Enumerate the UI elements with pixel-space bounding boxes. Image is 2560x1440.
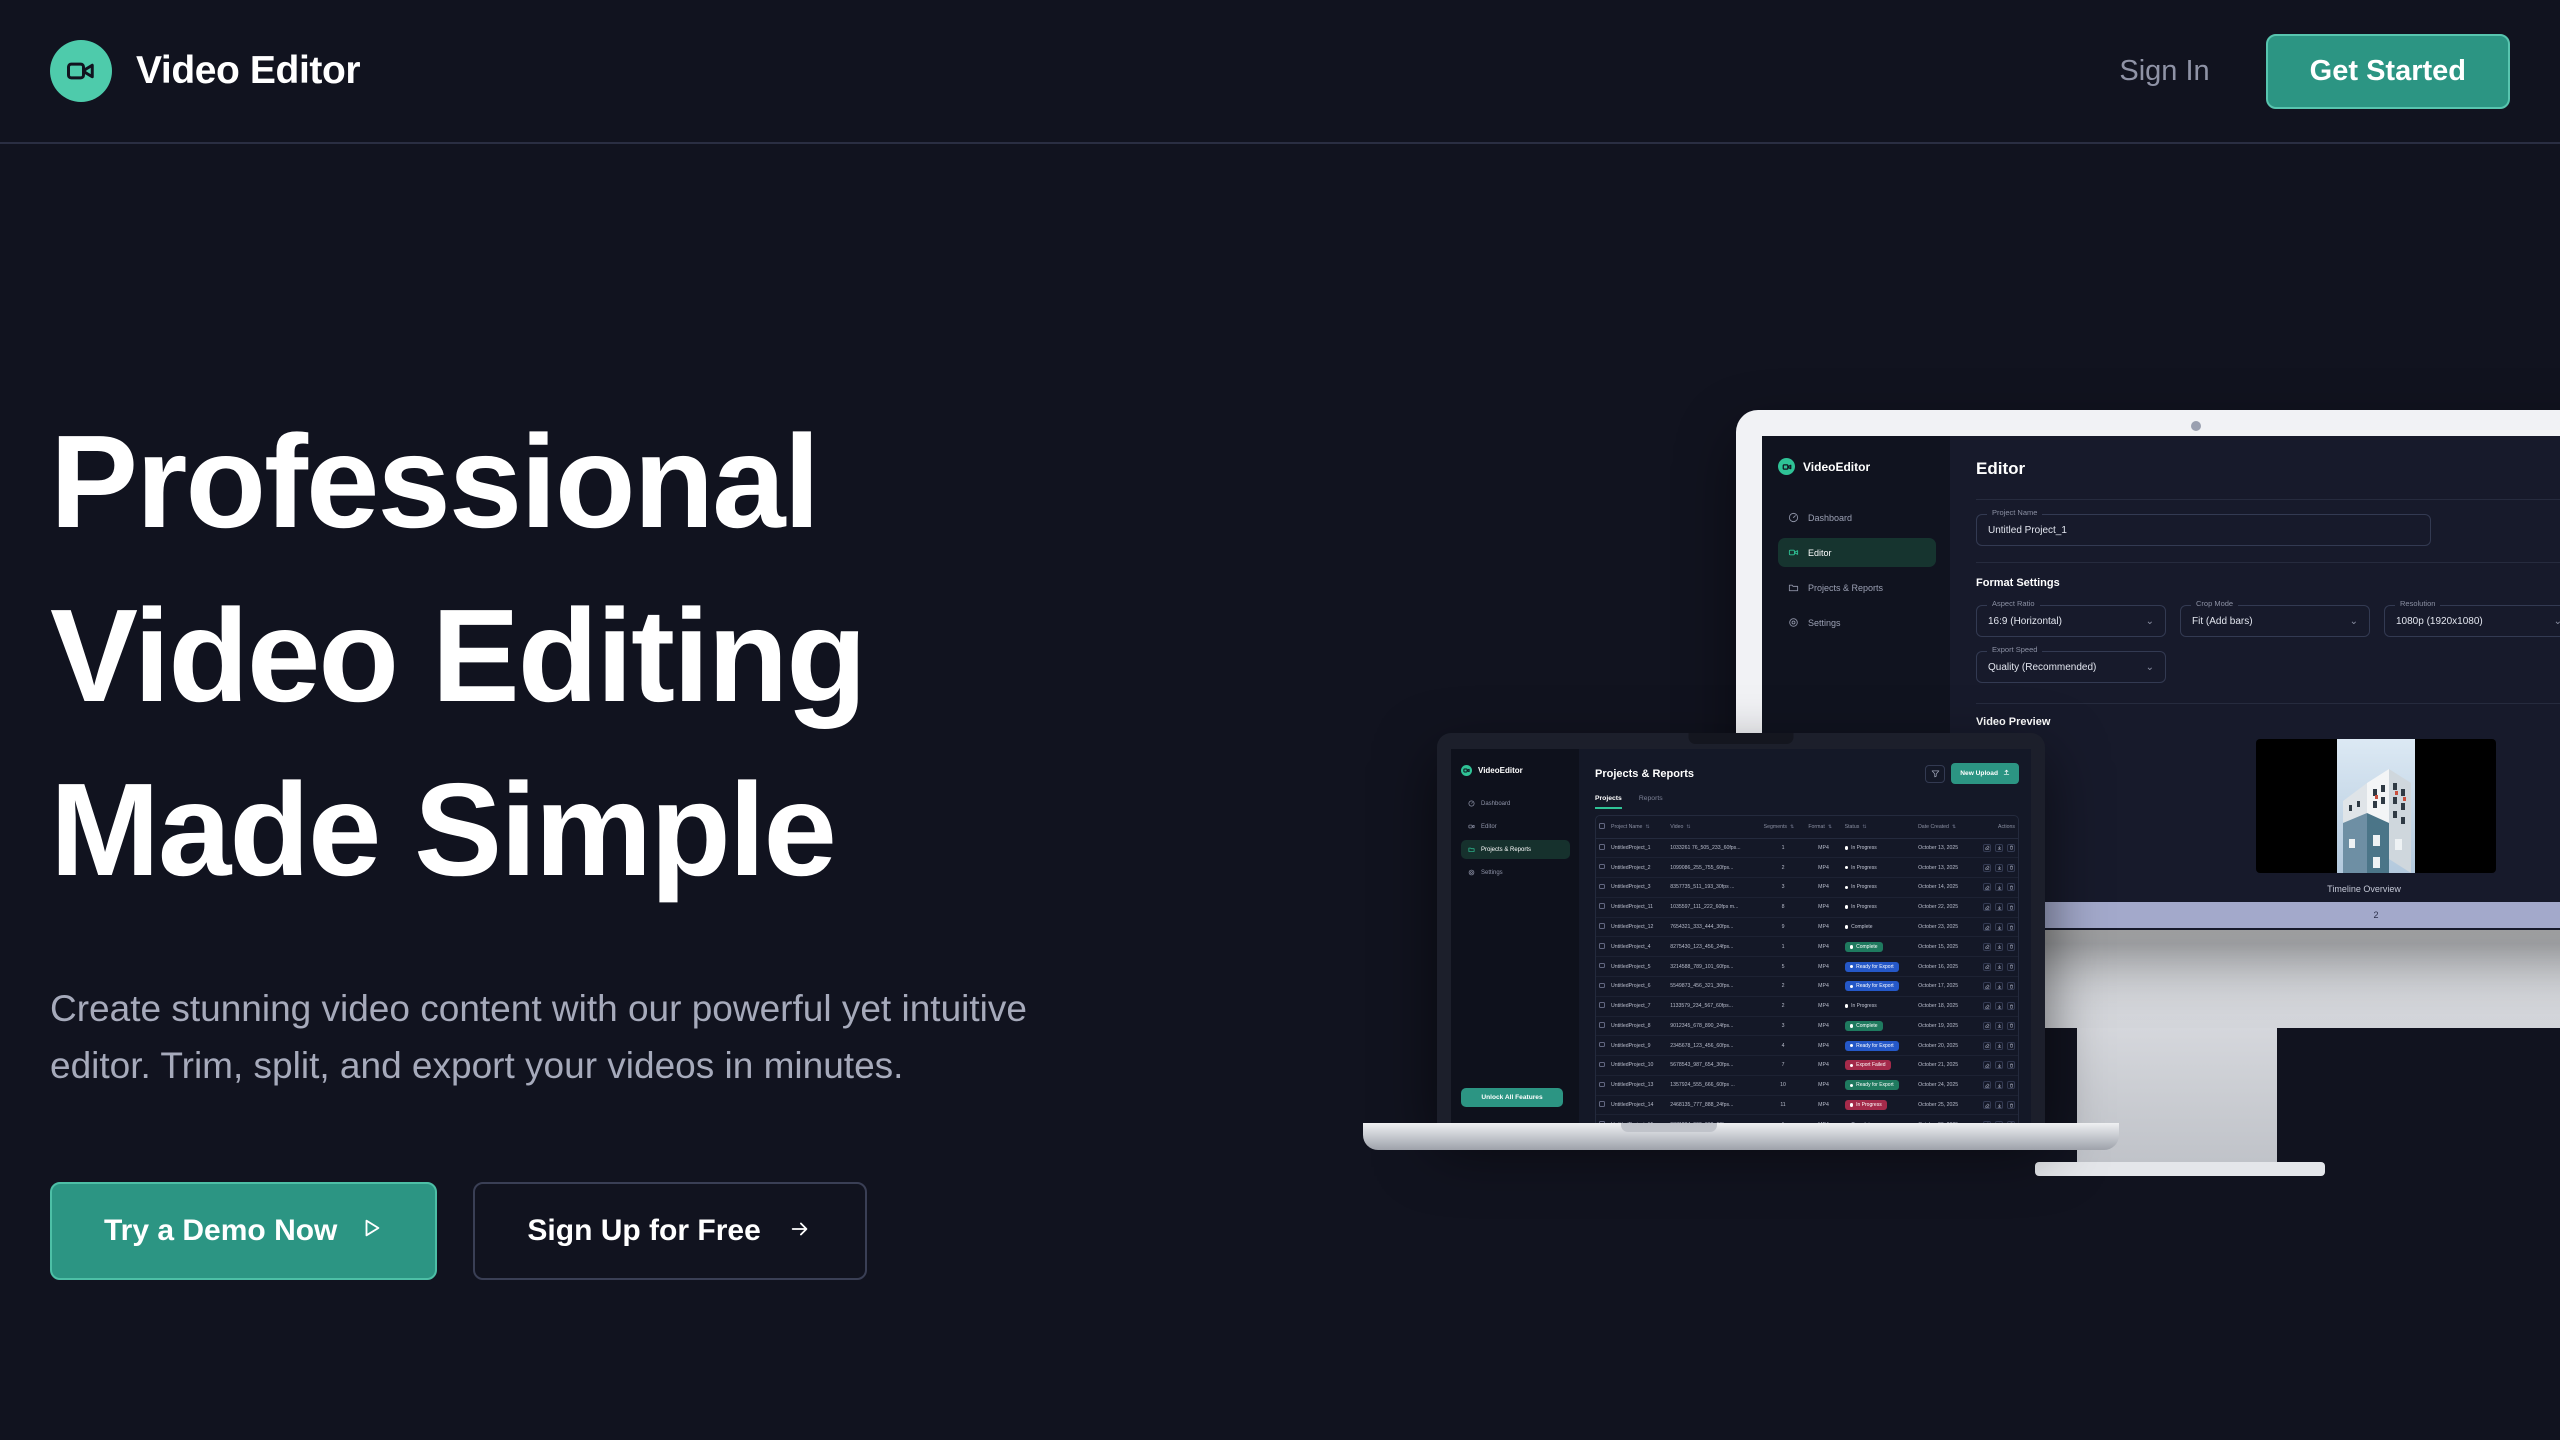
status-badge: Complete [1845,942,1883,952]
cell-segments: 7 [1761,1056,1806,1076]
delete-icon[interactable] [2007,1101,2015,1109]
row-checkbox[interactable] [1596,1016,1608,1036]
edit-icon[interactable] [1983,943,1991,951]
video-camera-icon [1788,547,1799,558]
cell-actions [1971,996,2018,1016]
cell-segments: 11 [1761,1095,1806,1115]
cell-segments: 10 [1761,1075,1806,1095]
cell-project-name: UntitledProject_5 [1608,957,1667,977]
laptop-base-notch [1621,1123,1717,1132]
try-demo-label: Try a Demo Now [104,1214,337,1248]
get-started-button[interactable]: Get Started [2266,34,2510,109]
checkbox-icon[interactable] [1599,1082,1605,1088]
export-speed-label: Export Speed [1987,645,2042,654]
row-checkbox[interactable] [1596,878,1608,898]
cell-status: Complete [1842,937,1915,957]
sort-icon: ⇅ [1790,824,1794,830]
projects-main-panel: Projects & Reports New Upload [1579,749,2031,1123]
page-title: Professional Video Editing Made Simple [50,395,1170,918]
checkbox-icon[interactable] [1599,963,1605,969]
cell-actions [1971,957,2018,977]
cell-date-created: October 26, 2025 [1915,1115,1971,1123]
cell-project-name: UntitledProject_7 [1608,996,1667,1016]
column-format[interactable]: Format⇅ [1805,816,1841,838]
status-dot-icon [1845,1004,1849,1008]
play-icon [361,1214,383,1248]
sidebar-item-dashboard[interactable]: Dashboard [1778,503,1936,532]
cell-project-name: UntitledProject_6 [1608,976,1667,996]
monitor-foot [2035,1162,2325,1176]
column-select-all[interactable] [1596,816,1608,838]
status-badge: In Progress [1845,882,1882,892]
cell-format: MP4 [1805,996,1841,1016]
cell-actions [1971,1075,2018,1095]
cell-format: MP4 [1805,1115,1841,1123]
status-badge: In Progress [1845,843,1882,853]
row-checkbox[interactable] [1596,858,1608,878]
sidebar-item-label: Settings [1481,870,1503,876]
cell-actions [1971,1016,2018,1036]
sort-icon: ⇅ [1952,824,1956,830]
delete-icon[interactable] [2007,923,2015,931]
sort-icon: ⇅ [1828,824,1832,830]
status-dot-icon [1850,1024,1854,1028]
checkbox-icon[interactable] [1599,884,1605,890]
download-icon[interactable] [1995,982,2003,990]
video-camera-icon [1778,458,1795,475]
cell-date-created: October 16, 2025 [1915,957,1971,977]
column-actions: Actions [1971,816,2018,838]
download-icon[interactable] [1995,1042,2003,1050]
sort-icon: ⇅ [1862,824,1866,830]
project-name-field[interactable]: Project Name Untitled Project_1 [1976,514,2431,546]
row-checkbox[interactable] [1596,1075,1608,1095]
try-demo-button[interactable]: Try a Demo Now [50,1182,437,1280]
tab-projects[interactable]: Projects [1595,795,1622,809]
download-icon[interactable] [1995,1101,2003,1109]
status-badge: Ready for Export [1845,962,1899,972]
cell-video: 2468135_777_888_24fps... [1667,1095,1760,1115]
cell-format: MP4 [1805,838,1841,858]
table-header-row: Project Name⇅ Video⇅ Segments⇅ Format⇅ S… [1596,816,2018,838]
checkbox-icon[interactable] [1599,823,1605,829]
download-icon[interactable] [1995,923,2003,931]
table-row[interactable]: UntitledProject_105678543_987_654_30fps.… [1596,1056,2018,1076]
unlock-all-features-button[interactable]: Unlock All Features [1461,1088,1563,1107]
table-row[interactable]: UntitledProject_71133579_234_567_60fps..… [1596,996,2018,1016]
column-project-name[interactable]: Project Name⇅ [1608,816,1667,838]
cell-video: 1133579_234_567_60fps... [1667,996,1760,1016]
new-upload-button[interactable]: New Upload [1951,763,2019,784]
sidebar-item-label: Projects & Reports [1808,583,1883,593]
sidebar-item-projects-reports[interactable]: Projects & Reports [1778,573,1936,602]
row-checkbox[interactable] [1596,996,1608,1016]
projects-tabs: Projects Reports [1595,795,2019,809]
delete-icon[interactable] [2007,1022,2015,1030]
edit-icon[interactable] [1983,963,1991,971]
resolution-select[interactable]: Resolution 1080p (1920x1080) ⌄ [2384,605,2560,637]
table-row[interactable]: UntitledProject_53214588_789_101_60fps..… [1596,957,2018,977]
tab-reports[interactable]: Reports [1639,795,1663,809]
divider [1976,499,2560,500]
brand-logo[interactable]: Video Editor [50,40,360,102]
sidebar-item-label: Editor [1808,548,1832,558]
project-name-value: Untitled Project_1 [1988,525,2067,536]
cell-date-created: October 23, 2025 [1915,917,1971,937]
download-icon[interactable] [1995,903,2003,911]
sidebar-item-label: Dashboard [1808,513,1852,523]
header-actions: Sign In Get Started [2119,34,2510,109]
video-preview-thumbnail [2337,739,2415,873]
table-row[interactable]: UntitledProject_131357924_555_666_60fps … [1596,1075,2018,1095]
status-badge: In Progress [1845,1100,1887,1110]
video-camera-icon [1461,765,1472,776]
hero-cta-group: Try a Demo Now Sign Up for Free [50,1182,1170,1280]
sort-icon: ⇅ [1686,824,1690,830]
status-dot-icon [1845,866,1849,870]
cell-date-created: October 17, 2025 [1915,976,1971,996]
chevron-down-icon: ⌄ [2146,616,2154,627]
cell-video: 5678543_987_654_30fps... [1667,1056,1760,1076]
checkbox-icon[interactable] [1599,864,1605,870]
cell-actions [1971,858,2018,878]
table-row[interactable]: UntitledProject_48275430_123_456_24fps..… [1596,937,2018,957]
status-dot-icon [1850,945,1854,949]
column-date-created[interactable]: Date Created⇅ [1915,816,1971,838]
chevron-down-icon: ⌄ [2554,616,2560,627]
laptop-mockup: VideoEditor Dashboard Editor [1437,733,2045,1123]
edit-icon[interactable] [1983,982,1991,990]
aspect-ratio-value: 16:9 (Horizontal) [1988,616,2062,627]
status-badge: In Progress [1845,1001,1882,1011]
status-dot-icon [1850,1103,1854,1107]
laptop-brand-name: VideoEditor [1478,766,1523,775]
cell-project-name: UntitledProject_14 [1608,1095,1667,1115]
cell-format: MP4 [1805,937,1841,957]
status-badge: In Progress [1845,902,1882,912]
table-row[interactable]: UntitledProject_38357735_511_193_30fps .… [1596,878,2018,898]
row-checkbox[interactable] [1596,1036,1608,1056]
sidebar-item-settings[interactable]: Settings [1461,863,1570,882]
editor-page-title: Editor [1976,459,2025,479]
edit-icon[interactable] [1983,1002,1991,1010]
cell-video: 5549873_456_321_30fps... [1667,976,1760,996]
cell-actions [1971,897,2018,917]
cell-project-name: UntitledProject_2 [1608,858,1667,878]
monitor-camera-dot [2191,421,2201,431]
format-settings-title: Format Settings [1976,577,2560,589]
row-checkbox[interactable] [1596,838,1608,858]
checkbox-icon[interactable] [1599,1022,1605,1028]
delete-icon[interactable] [2007,1061,2015,1069]
checkbox-icon[interactable] [1599,1062,1605,1068]
column-status[interactable]: Status⇅ [1842,816,1915,838]
sidebar-item-label: Editor [1481,824,1497,830]
cell-actions [1971,1095,2018,1115]
brand-name: Video Editor [136,49,360,93]
export-speed-value: Quality (Recommended) [1988,662,2096,673]
cell-actions [1971,937,2018,957]
video-camera-icon [50,40,112,102]
download-icon[interactable] [1995,1022,2003,1030]
row-checkbox[interactable] [1596,897,1608,917]
checkbox-icon[interactable] [1599,844,1605,850]
table-row[interactable]: UntitledProject_159871234_999_000_60fps.… [1596,1115,2018,1123]
site-header: Video Editor Sign In Get Started [0,0,2560,144]
cell-status: Complete [1842,1115,1915,1123]
chevron-down-icon: ⌄ [2350,616,2358,627]
row-checkbox[interactable] [1596,1056,1608,1076]
checkbox-icon[interactable] [1599,903,1605,909]
cell-date-created: October 14, 2025 [1915,878,1971,898]
cell-project-name: UntitledProject_13 [1608,1075,1667,1095]
projects-page-title: Projects & Reports [1595,768,1694,780]
checkbox-icon[interactable] [1599,983,1605,989]
download-icon[interactable] [1995,963,2003,971]
cell-project-name: UntitledProject_10 [1608,1056,1667,1076]
cell-video: 1357924_555_666_60fps ... [1667,1075,1760,1095]
upload-icon [2003,769,2010,778]
crop-mode-select[interactable]: Crop Mode Fit (Add bars) ⌄ [2180,605,2370,637]
projects-header-actions: New Upload [1925,763,2019,784]
download-icon[interactable] [1995,943,2003,951]
delete-icon[interactable] [2007,1081,2015,1089]
gauge-icon [1468,800,1475,807]
cell-date-created: October 24, 2025 [1915,1075,1971,1095]
cell-format: MP4 [1805,976,1841,996]
cell-project-name: UntitledProject_9 [1608,1036,1667,1056]
cell-segments: 1 [1761,937,1806,957]
cell-video: 8357735_511_193_30fps ... [1667,878,1760,898]
cell-format: MP4 [1805,1095,1841,1115]
download-icon[interactable] [1995,844,2003,852]
project-name-label: Project Name [1987,508,2042,517]
cell-format: MP4 [1805,917,1841,937]
delete-icon[interactable] [2007,864,2015,872]
hero-section: Professional Video Editing Made Simple C… [50,395,1170,1280]
sidebar-item-dashboard[interactable]: Dashboard [1461,794,1570,813]
gauge-icon [1788,512,1799,523]
sidebar-item-settings[interactable]: Settings [1778,608,1936,637]
sidebar-item-editor[interactable]: Editor [1461,817,1570,836]
table-row[interactable]: UntitledProject_21099086_255_755_60fps..… [1596,858,2018,878]
edit-icon[interactable] [1983,923,1991,931]
cell-video: 8275430_123_456_24fps... [1667,937,1760,957]
status-dot-icon [1845,925,1849,929]
cell-video: 7654321_333_444_30fps... [1667,917,1760,937]
export-speed-row: Export Speed Quality (Recommended) ⌄ [1976,651,2560,683]
download-icon[interactable] [1995,1002,2003,1010]
cell-status: In Progress [1842,878,1915,898]
checkbox-icon[interactable] [1599,923,1605,929]
row-checkbox[interactable] [1596,917,1608,937]
download-icon[interactable] [1995,883,2003,891]
status-badge: Complete [1845,1021,1883,1031]
cell-date-created: October 25, 2025 [1915,1095,1971,1115]
checkbox-icon[interactable] [1599,943,1605,949]
editor-sidebar-logo[interactable]: VideoEditor [1778,458,1936,475]
table-row[interactable]: UntitledProject_142468135_777_888_24fps.… [1596,1095,2018,1115]
sign-up-button[interactable]: Sign Up for Free [473,1182,866,1280]
table-row[interactable]: UntitledProject_89012345_678_890_24fps..… [1596,1016,2018,1036]
laptop-notch [1689,733,1794,744]
chevron-down-icon: ⌄ [2146,662,2154,673]
cell-actions [1971,1115,2018,1123]
status-badge: Ready for Export [1845,1080,1899,1090]
cell-segments: 4 [1761,1036,1806,1056]
delete-icon[interactable] [2007,903,2015,911]
hero-title-line-2: Video Editing [50,582,865,729]
status-dot-icon [1845,846,1849,850]
cell-segments: 3 [1761,1016,1806,1036]
download-icon[interactable] [1995,864,2003,872]
status-dot-icon [1850,965,1854,969]
laptop-sidebar-logo[interactable]: VideoEditor [1461,765,1570,776]
folder-icon [1468,846,1475,853]
status-badge: Ready for Export [1845,1041,1899,1051]
delete-icon[interactable] [2007,963,2015,971]
edit-icon[interactable] [1983,1081,1991,1089]
cell-format: MP4 [1805,1016,1841,1036]
download-icon[interactable] [1995,1081,2003,1089]
status-badge: Ready for Export [1845,981,1899,991]
projects-app-screen: VideoEditor Dashboard Editor [1451,749,2031,1123]
edit-icon[interactable] [1983,844,1991,852]
cell-video: 1099086_255_755_60fps... [1667,858,1760,878]
table-row[interactable]: UntitledProject_111035597_111_222_60fps … [1596,897,2018,917]
cell-segments: 9 [1761,917,1806,937]
cell-actions [1971,878,2018,898]
checkbox-icon[interactable] [1599,1101,1605,1107]
edit-icon[interactable] [1983,903,1991,911]
filter-icon[interactable] [1925,765,1945,783]
cell-date-created: October 20, 2025 [1915,1036,1971,1056]
cell-segments: 2 [1761,976,1806,996]
projects-table: Project Name⇅ Video⇅ Segments⇅ Format⇅ S… [1595,815,2019,1123]
cell-segments: 5 [1761,957,1806,977]
status-badge: In Progress [1845,863,1882,873]
cell-actions [1971,1056,2018,1076]
delete-icon[interactable] [2007,883,2015,891]
cell-format: MP4 [1805,1056,1841,1076]
cell-project-name: UntitledProject_8 [1608,1016,1667,1036]
hero-title-line-3: Made Simple [50,756,835,903]
folder-icon [1788,582,1799,593]
sign-in-link[interactable]: Sign In [2119,55,2209,88]
landing-page: Video Editor Sign In Get Started Profess… [0,0,2560,1440]
video-camera-icon [1468,823,1475,830]
delete-icon[interactable] [2007,982,2015,990]
status-dot-icon [1845,886,1849,890]
edit-icon[interactable] [1983,883,1991,891]
delete-icon[interactable] [2007,1002,2015,1010]
edit-icon[interactable] [1983,864,1991,872]
status-dot-icon [1850,1064,1854,1068]
status-badge: Export Failed [1845,1060,1891,1070]
cell-project-name: UntitledProject_4 [1608,937,1667,957]
edit-icon[interactable] [1983,1061,1991,1069]
edit-icon[interactable] [1983,1042,1991,1050]
cell-video: 1035597_111_222_60fps m... [1667,897,1760,917]
hero-subtitle: Create stunning video content with our p… [50,980,1130,1095]
cell-status: Complete [1842,917,1915,937]
sidebar-item-projects-reports[interactable]: Projects & Reports [1461,840,1570,859]
laptop-base [1363,1123,2119,1150]
download-icon[interactable] [1995,1061,2003,1069]
row-checkbox[interactable] [1596,957,1608,977]
resolution-label: Resolution [2395,599,2440,608]
timeline-overview-label: Timeline Overview [1976,884,2560,894]
table-body: UntitledProject_11033261 76_505_233_60fp… [1596,838,2018,1123]
sidebar-item-label: Settings [1808,618,1841,628]
cell-status: Ready for Export [1842,1036,1915,1056]
cell-actions [1971,976,2018,996]
video-preview-header: Video Preview Video player size [1976,716,2560,728]
cell-format: MP4 [1805,1075,1841,1095]
aspect-ratio-label: Aspect Ratio [1987,599,2040,608]
column-video[interactable]: Video⇅ [1667,816,1760,838]
aspect-ratio-select[interactable]: Aspect Ratio 16:9 (Horizontal) ⌄ [1976,605,2166,637]
crop-mode-value: Fit (Add bars) [2192,616,2253,627]
resolution-value: 1080p (1920x1080) [2396,616,2483,627]
cell-status: In Progress [1842,996,1915,1016]
cell-status: In Progress [1842,838,1915,858]
cell-video: 2345678_123_456_60fps... [1667,1036,1760,1056]
status-badge: Complete [1845,922,1878,932]
edit-icon[interactable] [1983,1022,1991,1030]
format-settings-grid: Aspect Ratio 16:9 (Horizontal) ⌄ Crop Mo… [1976,605,2560,637]
table-row[interactable]: UntitledProject_65549873_456_321_30fps..… [1596,976,2018,996]
sidebar-item-editor[interactable]: Editor [1778,538,1936,567]
row-checkbox[interactable] [1596,937,1608,957]
cell-format: MP4 [1805,957,1841,977]
table-row[interactable]: UntitledProject_11033261 76_505_233_60fp… [1596,838,2018,858]
divider [1976,703,2560,704]
export-speed-select[interactable]: Export Speed Quality (Recommended) ⌄ [1976,651,2166,683]
cell-status: Ready for Export [1842,1075,1915,1095]
cell-status: In Progress [1842,897,1915,917]
row-checkbox[interactable] [1596,1095,1608,1115]
checkbox-icon[interactable] [1599,1042,1605,1048]
table-row[interactable]: UntitledProject_127654321_333_444_30fps.… [1596,917,2018,937]
delete-icon[interactable] [2007,1042,2015,1050]
editor-brand-name: VideoEditor [1803,460,1870,474]
cell-video: 1033261 76_505_233_60fps... [1667,838,1760,858]
cell-segments: 1 [1761,1115,1806,1123]
checkbox-icon[interactable] [1599,1002,1605,1008]
delete-icon[interactable] [2007,844,2015,852]
cell-segments: 3 [1761,878,1806,898]
cell-status: In Progress [1842,1095,1915,1115]
table-row[interactable]: UntitledProject_92345678_123_456_60fps..… [1596,1036,2018,1056]
cell-actions [1971,917,2018,937]
column-segments[interactable]: Segments⇅ [1761,816,1806,838]
status-dot-icon [1845,905,1849,909]
editor-header-row: Editor Save Exp [1976,454,2560,483]
crop-mode-label: Crop Mode [2191,599,2238,608]
row-checkbox[interactable] [1596,976,1608,996]
cell-status: Complete [1842,1016,1915,1036]
cell-actions [1971,838,2018,858]
row-checkbox[interactable] [1596,1115,1608,1123]
timeline-bar[interactable]: 2 [1976,902,2560,928]
delete-icon[interactable] [2007,943,2015,951]
cell-status: Ready for Export [1842,957,1915,977]
cell-project-name: UntitledProject_11 [1608,897,1667,917]
edit-icon[interactable] [1983,1101,1991,1109]
status-dot-icon [1850,1044,1854,1048]
cell-video: 9012345_678_890_24fps... [1667,1016,1760,1036]
